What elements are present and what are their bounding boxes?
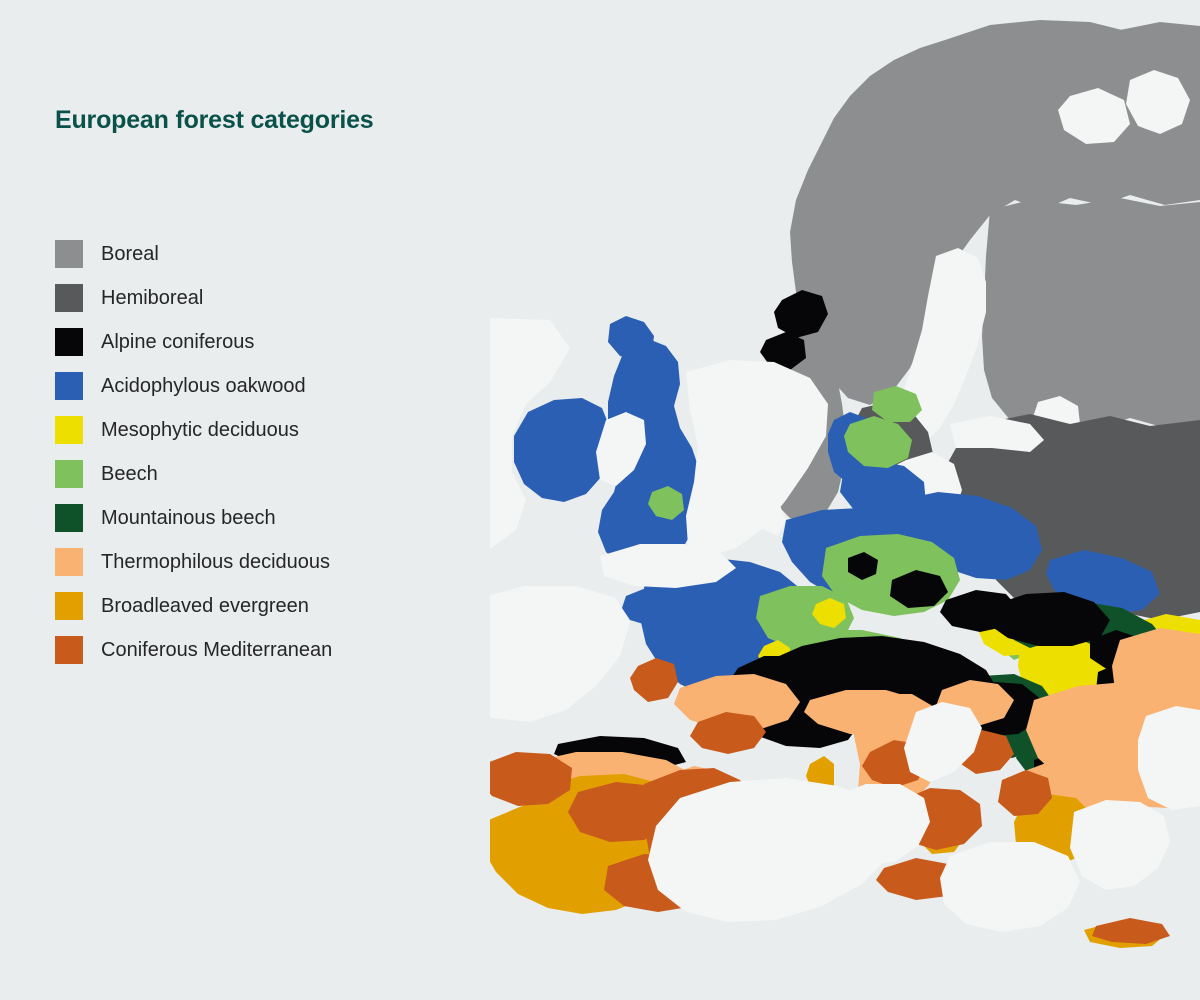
legend-swatch-mesophytic-deciduous [55,416,83,444]
legend-item-beech[interactable]: Beech [55,460,455,488]
alpine-coniferous-tatra [940,590,1020,632]
legend-label-mesophytic-deciduous: Mesophytic deciduous [101,420,299,440]
boreal-finland-east [982,198,1200,430]
sea-left-margin [430,0,490,1000]
legend-swatch-boreal [55,240,83,268]
legend-label-hemiboreal: Hemiboreal [101,288,203,308]
coniferous-med-aquitaine [630,658,678,702]
legend-swatch-alpine-coniferous [55,328,83,356]
legend-label-beech: Beech [101,464,158,484]
legend-item-mesophytic-deciduous[interactable]: Mesophytic deciduous [55,416,455,444]
legend-item-thermophilous-deciduous[interactable]: Thermophilous deciduous [55,548,455,576]
legend-label-mountainous-beech: Mountainous beech [101,508,276,528]
legend-item-acidophylous-oakwood[interactable]: Acidophylous oakwood [55,372,455,400]
legend-label-acidophylous-oakwood: Acidophylous oakwood [101,376,306,396]
sea-ionian [940,842,1080,932]
legend-swatch-beech [55,460,83,488]
legend-swatch-thermophilous-deciduous [55,548,83,576]
legend-item-mountainous-beech[interactable]: Mountainous beech [55,504,455,532]
map-svg [430,0,1200,1000]
legend-swatch-broadleaved-evergreen [55,592,83,620]
oakwood-scotland-north [608,316,654,360]
legend-label-thermophilous-deciduous: Thermophilous deciduous [101,552,330,572]
legend-label-coniferous-mediterranean: Coniferous Mediterranean [101,640,332,660]
legend-item-coniferous-mediterranean[interactable]: Coniferous Mediterranean [55,636,455,664]
europe-forest-map[interactable] [430,0,1200,1000]
legend-label-boreal: Boreal [101,244,159,264]
legend-item-boreal[interactable]: Boreal [55,240,455,268]
legend-label-broadleaved-evergreen: Broadleaved evergreen [101,596,309,616]
sea-bottom [430,950,1200,1000]
legend-item-alpine-coniferous[interactable]: Alpine coniferous [55,328,455,356]
legend-swatch-acidophylous-oakwood [55,372,83,400]
legend-swatch-hemiboreal [55,284,83,312]
map-legend: Boreal Hemiboreal Alpine coniferous Acid… [55,240,455,680]
legend-label-alpine-coniferous: Alpine coniferous [101,332,254,352]
page-title: European forest categories [55,106,374,135]
legend-item-broadleaved-evergreen[interactable]: Broadleaved evergreen [55,592,455,620]
sea-aegean [1070,800,1170,890]
map-figure: European forest categories Boreal Hemibo… [0,0,1200,1000]
oakwood-ireland [514,398,610,502]
legend-swatch-coniferous-mediterranean [55,636,83,664]
sea-black-sea [1138,706,1200,810]
legend-item-hemiboreal[interactable]: Hemiboreal [55,284,455,312]
oakwood-brittany [622,588,674,626]
legend-swatch-mountainous-beech [55,504,83,532]
